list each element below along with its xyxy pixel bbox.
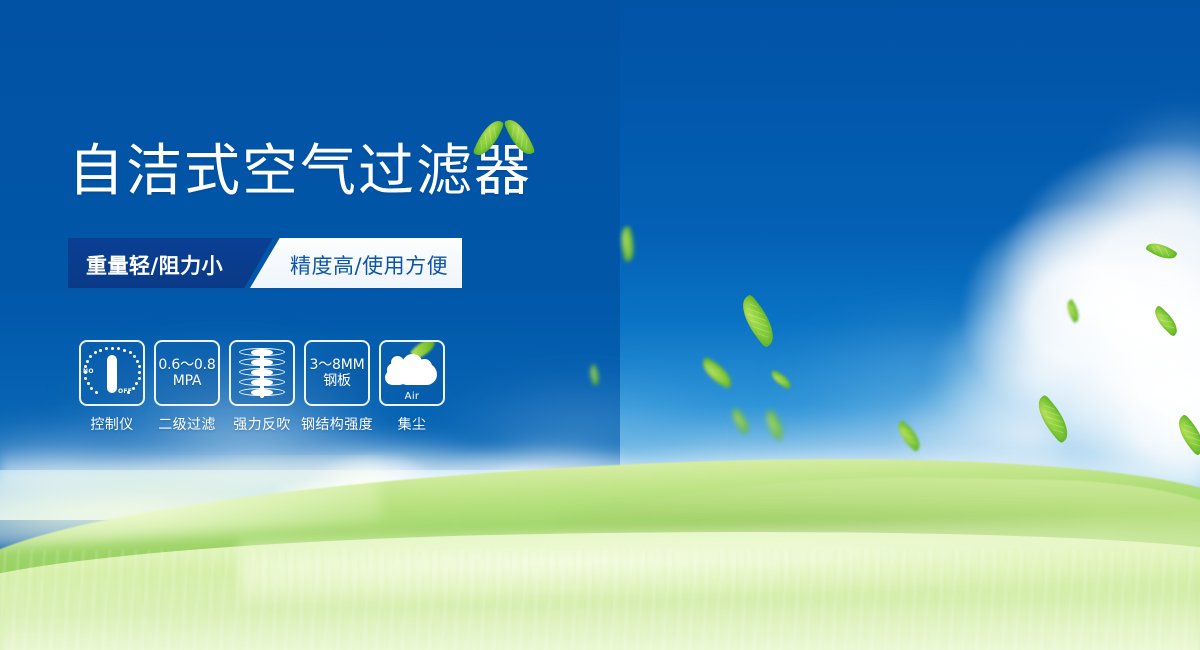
subtitle-bar: 重量轻/阻力小 精度高/使用方便 xyxy=(68,238,462,288)
dial-on-label: NO xyxy=(83,368,94,375)
filter-stack-icon xyxy=(239,347,285,399)
dial-gauge-icon: NO OFF xyxy=(82,343,142,403)
feature-icon-box: Air xyxy=(379,340,445,406)
pressure-text-icon: 0.6～0.8 MPA xyxy=(158,357,215,389)
feature-icon-box: NO OFF xyxy=(79,340,145,406)
feature-item-dust-collection[interactable]: Air 集尘 xyxy=(379,340,445,434)
feature-label: 钢结构强度 xyxy=(301,414,373,434)
feature-label: 控制仪 xyxy=(90,414,133,434)
subtitle-left-text: 重量轻/阻力小 xyxy=(86,250,223,280)
feature-icon-row: NO OFF 控制仪 0.6～0.8 MPA 二级过滤 xyxy=(79,340,445,434)
dial-off-label: OFF xyxy=(118,388,132,395)
feature-label: 强力反吹 xyxy=(233,414,291,434)
cloud-shape-small xyxy=(385,370,407,385)
feature-icon-box: 3～8MM 钢板 xyxy=(304,340,370,406)
feature-label: 集尘 xyxy=(398,414,427,434)
page-title: 自洁式空气过滤器 xyxy=(68,144,532,200)
dial-knob xyxy=(107,355,117,393)
grass-field xyxy=(0,455,1200,650)
grass-bottom-glow xyxy=(0,570,1200,650)
pressure-value-line1: 0.6～0.8 xyxy=(158,357,215,373)
product-banner: 自洁式空气过滤器 重量轻/阻力小 精度高/使用方便 xyxy=(0,0,1200,650)
cloud-air-icon: Air xyxy=(383,346,441,400)
feature-item-steel-strength[interactable]: 3～8MM 钢板 钢结构强度 xyxy=(304,340,370,434)
steel-plate-text-icon: 3～8MM 钢板 xyxy=(310,357,365,389)
steel-value-line1: 3～8MM xyxy=(310,357,365,373)
feature-label: 二级过滤 xyxy=(158,414,216,434)
feature-item-strong-blowback[interactable]: 强力反吹 xyxy=(229,340,295,434)
subtitle-right-text: 精度高/使用方便 xyxy=(290,250,448,280)
feature-item-secondary-filter[interactable]: 0.6～0.8 MPA 二级过滤 xyxy=(154,340,220,434)
feature-icon-box: 0.6～0.8 MPA xyxy=(154,340,220,406)
pressure-value-line2: MPA xyxy=(158,373,215,389)
feature-icon-box xyxy=(229,340,295,406)
feature-item-controller[interactable]: NO OFF 控制仪 xyxy=(79,340,145,434)
steel-value-line2: 钢板 xyxy=(310,373,365,389)
air-label: Air xyxy=(383,391,441,402)
